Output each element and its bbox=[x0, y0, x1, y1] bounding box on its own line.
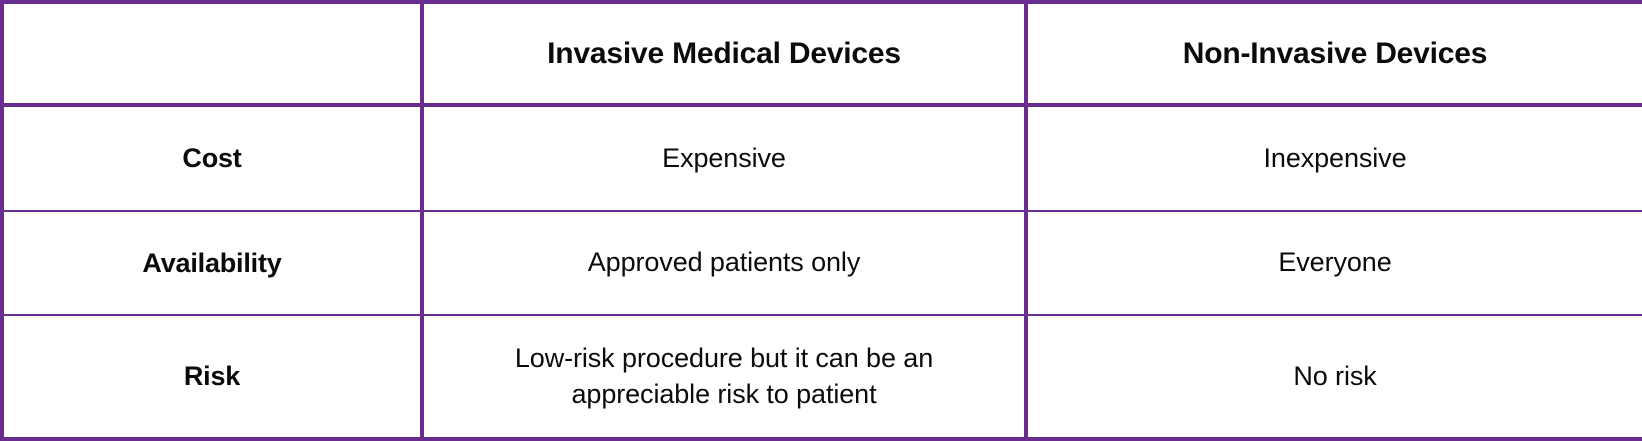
table-row: Availability Approved patients only Ever… bbox=[2, 211, 1642, 315]
header-corner-cell bbox=[2, 2, 422, 105]
cell-text-line: Approved patients only bbox=[438, 245, 1010, 280]
column-header-invasive: Invasive Medical Devices bbox=[422, 2, 1026, 105]
header-row: Invasive Medical Devices Non-Invasive De… bbox=[2, 2, 1642, 105]
cell-text-line: Expensive bbox=[438, 141, 1010, 176]
cell-text-line: No risk bbox=[1042, 359, 1628, 394]
cell-text-line: appreciable risk to patient bbox=[438, 377, 1010, 412]
cell-risk-invasive: Low-risk procedure but it can be an appr… bbox=[422, 315, 1026, 439]
comparison-table: Invasive Medical Devices Non-Invasive De… bbox=[0, 0, 1642, 441]
table-row: Cost Expensive Inexpensive bbox=[2, 105, 1642, 211]
row-label-cost: Cost bbox=[2, 105, 422, 211]
cell-text-line: Everyone bbox=[1042, 245, 1628, 280]
table-body: Cost Expensive Inexpensive Availability … bbox=[2, 105, 1642, 439]
table-row: Risk Low-risk procedure but it can be an… bbox=[2, 315, 1642, 439]
row-label-availability: Availability bbox=[2, 211, 422, 315]
cell-availability-invasive: Approved patients only bbox=[422, 211, 1026, 315]
cell-text-line: Inexpensive bbox=[1042, 141, 1628, 176]
cell-text-line: Low-risk procedure but it can be an bbox=[438, 341, 1010, 376]
row-label-risk: Risk bbox=[2, 315, 422, 439]
table-header: Invasive Medical Devices Non-Invasive De… bbox=[2, 2, 1642, 105]
cell-availability-non-invasive: Everyone bbox=[1026, 211, 1642, 315]
comparison-table-container: Invasive Medical Devices Non-Invasive De… bbox=[0, 0, 1642, 441]
cell-cost-non-invasive: Inexpensive bbox=[1026, 105, 1642, 211]
column-header-non-invasive: Non-Invasive Devices bbox=[1026, 2, 1642, 105]
cell-risk-non-invasive: No risk bbox=[1026, 315, 1642, 439]
cell-cost-invasive: Expensive bbox=[422, 105, 1026, 211]
